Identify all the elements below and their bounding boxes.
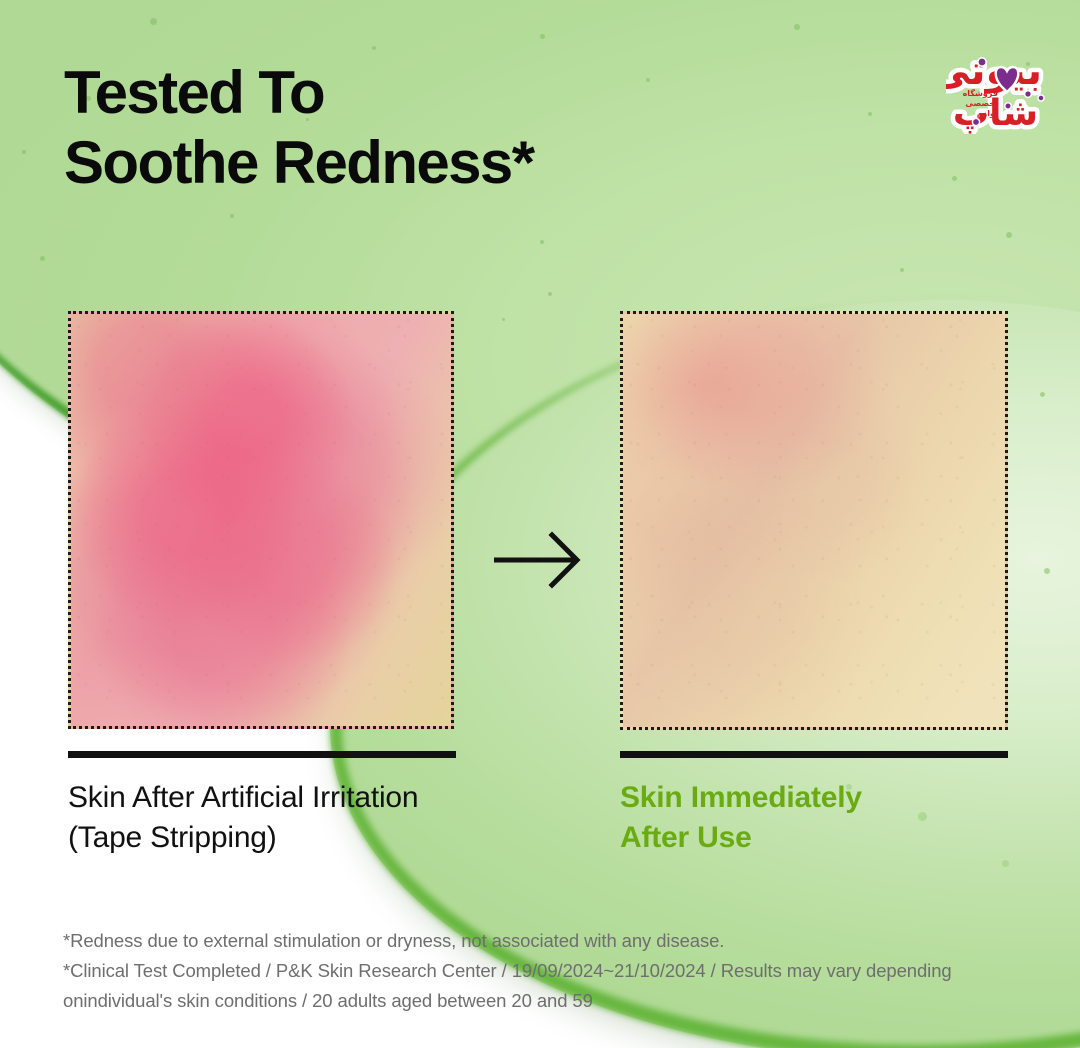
skin-before-texture — [71, 314, 451, 726]
logo-line1: بیوتی — [946, 48, 1042, 94]
footnote-line-3: onindividual's skin conditions / 20 adul… — [63, 986, 1023, 1016]
logo-tagline-3: لوازم — [977, 109, 998, 118]
page-title: Tested To Soothe Redness* — [64, 58, 533, 198]
skin-before-photo — [68, 311, 454, 729]
advertisement-canvas: Tested To Soothe Redness* بیوتی بیوتی شا… — [0, 0, 1080, 1048]
caption-before: Skin After Artificial Irritation (Tape S… — [68, 778, 538, 858]
brand-logo[interactable]: بیوتی بیوتی شاپ شاپ فروشگاه تخصصی لوازم — [946, 26, 1058, 134]
skin-after-texture — [623, 314, 1005, 727]
logo-tagline-2: تخصصی — [965, 99, 998, 108]
footnote-line-2: *Clinical Test Completed / P&K Skin Rese… — [63, 956, 1023, 986]
caption-rule-after — [620, 751, 1008, 758]
skin-after-photo — [620, 311, 1008, 730]
footnotes: *Redness due to external stimulation or … — [63, 926, 1023, 1016]
caption-after: Skin Immediately After Use — [620, 778, 1020, 858]
logo-tagline-1: فروشگاه — [963, 88, 998, 98]
footnote-line-1: *Redness due to external stimulation or … — [63, 926, 1023, 956]
caption-rule-before — [68, 751, 456, 758]
arrow-right-icon — [492, 529, 584, 591]
